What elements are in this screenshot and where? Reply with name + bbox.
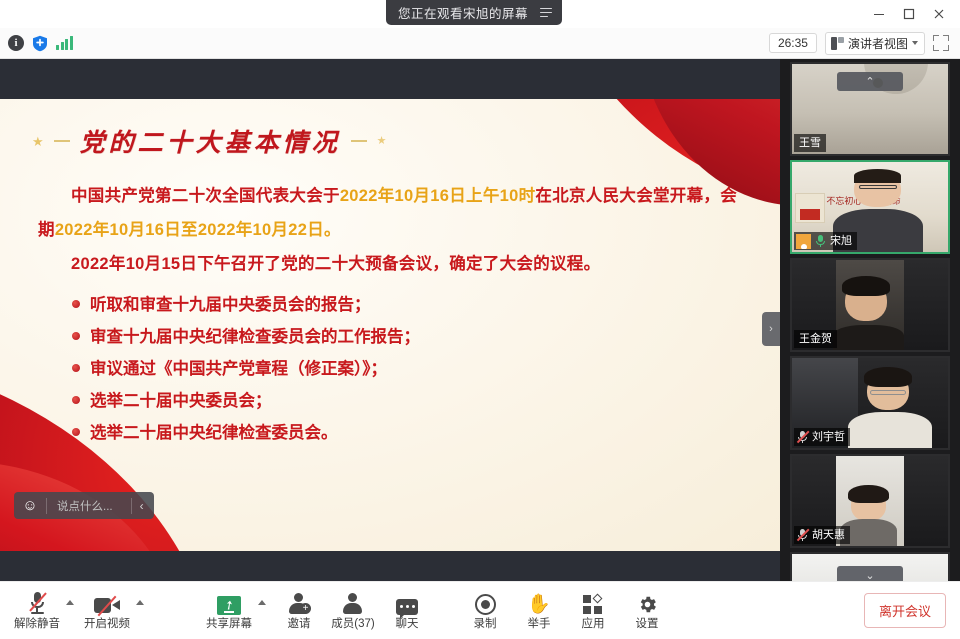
chat-bubble-icon — [396, 591, 418, 615]
share-screen-label: 共享屏幕 — [206, 618, 252, 631]
view-mode-label: 演讲者视图 — [848, 35, 908, 52]
slide-content: ★ 党的二十大基本情况 ★ 中国共产党第二十次全国代表大会于2022年10月16… — [0, 99, 780, 449]
participant-name: 宋旭 — [830, 233, 852, 249]
meeting-toolbar: 解除静音 开启视频 ➚ 共享屏幕 + 邀请 — [0, 581, 960, 639]
title-dash-right — [351, 140, 367, 142]
chat-label: 聊天 — [396, 618, 419, 631]
slide-bullet-text: 听取和审查十九届中央委员会的报告； — [90, 289, 371, 321]
bullet-dot-icon — [72, 332, 80, 340]
apps-label: 应用 — [582, 618, 605, 631]
shield-icon[interactable] — [32, 35, 48, 52]
chat-button[interactable]: 聊天 — [380, 589, 434, 633]
status-icons: i — [8, 35, 73, 52]
meeting-window: 您正在观看宋旭的屏幕 i — [0, 0, 960, 639]
fullscreen-icon[interactable] — [933, 35, 949, 51]
slide-bullet-text: 审议通过《中国共产党章程（修正案）》； — [90, 353, 387, 385]
raise-hand-label: 举手 — [528, 618, 551, 631]
slide-text-run: 2022年10月15日下午召开了党的二十大预备会议，确定了大会的议程。 — [71, 255, 600, 273]
slide-bullet-item: 选举二十届中央委员会； — [72, 385, 750, 417]
record-button[interactable]: 录制 — [458, 589, 512, 633]
camera-off-icon — [94, 591, 120, 615]
participant-name: 王雪 — [799, 135, 821, 151]
slide-bullet-text: 审查十九届中央纪律检查委员会的工作报告； — [90, 321, 420, 353]
star-decor-left: ★ — [32, 135, 44, 148]
video-label: 开启视频 — [84, 618, 130, 631]
slide-bullet-item: 审查十九届中央纪律检查委员会的工作报告； — [72, 321, 750, 353]
participant-tile[interactable]: ⌃ 王雪 — [790, 62, 950, 156]
slide-bullet-list: 听取和审查十九届中央委员会的报告；审查十九届中央纪律检查委员会的工作报告；审议通… — [38, 289, 750, 449]
stage-chat-input-bar[interactable]: ☺ 说点什么... ‹ — [14, 492, 154, 519]
title-bar: 您正在观看宋旭的屏幕 — [0, 0, 960, 28]
stage-chat-placeholder[interactable]: 说点什么... — [47, 498, 131, 514]
bullet-dot-icon — [72, 300, 80, 308]
meeting-status-bar: i 26:35 演讲者视图 — [0, 28, 960, 59]
participant-tile[interactable]: 刘宇哲 — [790, 356, 950, 450]
participant-name: 胡天惠 — [812, 527, 845, 543]
signal-strength-icon[interactable] — [56, 36, 73, 50]
participants-button[interactable]: 成员(37) — [326, 589, 380, 633]
meeting-timer: 26:35 — [769, 33, 817, 53]
collapse-panel-handle[interactable]: › — [762, 312, 780, 346]
raise-hand-icon: ✋ — [527, 591, 551, 615]
slide-bullet-item: 选举二十届中央纪律检查委员会。 — [72, 417, 750, 449]
settings-label: 设置 — [636, 618, 659, 631]
record-label: 录制 — [474, 618, 497, 631]
invite-button[interactable]: + 邀请 — [272, 589, 326, 633]
share-screen-button[interactable]: ➚ 共享屏幕 — [202, 589, 256, 633]
participants-icon — [342, 591, 364, 615]
status-right: 26:35 演讲者视图 — [769, 32, 952, 55]
bullet-dot-icon — [72, 428, 80, 436]
window-controls — [864, 0, 954, 28]
participant-name: 刘宇哲 — [812, 429, 845, 445]
participants-label: 成员(37) — [331, 618, 374, 631]
slide-bullet-text: 选举二十届中央委员会； — [90, 385, 272, 417]
microphone-muted-icon — [796, 528, 809, 542]
star-decor-right: ★ — [377, 136, 387, 147]
record-icon — [475, 591, 496, 615]
scroll-down-button[interactable]: ⌄ — [837, 566, 903, 581]
mute-label: 解除静音 — [14, 618, 60, 631]
chevron-left-icon[interactable]: ‹ — [132, 492, 152, 519]
participant-name-tag: 胡天惠 — [794, 526, 850, 544]
apps-grid-icon — [583, 591, 604, 615]
close-button[interactable] — [924, 1, 954, 27]
share-options-chevron-icon[interactable] — [258, 600, 266, 605]
screen-share-notice[interactable]: 您正在观看宋旭的屏幕 — [386, 0, 562, 25]
chevron-down-icon[interactable] — [912, 41, 918, 45]
participant-name-tag: 王金贺 — [794, 330, 837, 348]
slide-bullet-item: 审议通过《中国共产党章程（修正案）》； — [72, 353, 750, 385]
emoji-icon[interactable]: ☺ — [18, 494, 42, 518]
invite-label: 邀请 — [288, 618, 311, 631]
participant-name: 王金贺 — [799, 331, 832, 347]
title-dash-left — [54, 140, 70, 142]
highlighted-date: 2022年10月16日至2022年10月22日。 — [55, 221, 341, 239]
hamburger-menu-icon[interactable] — [540, 8, 552, 18]
share-screen-icon: ➚ — [217, 591, 241, 615]
settings-button[interactable]: 设置 — [620, 589, 674, 633]
leave-meeting-button[interactable]: 离开会议 — [864, 593, 946, 628]
slide-title: 党的二十大基本情况 — [80, 123, 341, 159]
highlighted-date: 2022年10月16日上午10时 — [340, 187, 536, 205]
view-mode-selector[interactable]: 演讲者视图 — [825, 32, 925, 55]
microphone-on-icon — [814, 234, 827, 248]
microphone-muted-icon — [796, 430, 809, 444]
participant-name-tag: 王雪 — [794, 134, 826, 152]
participant-tile[interactable]: ⌄ — [790, 552, 950, 581]
invite-person-icon: + — [288, 591, 310, 615]
participant-name-tag: 刘宇哲 — [794, 428, 850, 446]
maximize-button[interactable] — [894, 1, 924, 27]
avatar — [796, 234, 811, 249]
participant-tile[interactable]: 王金贺 — [790, 258, 950, 352]
speaker-view-icon — [831, 37, 844, 50]
slide-title-row: ★ 党的二十大基本情况 ★ — [18, 123, 750, 159]
mute-toggle-button[interactable]: 解除静音 — [10, 589, 64, 633]
bullet-dot-icon — [72, 396, 80, 404]
scroll-up-button[interactable]: ⌃ — [837, 72, 903, 91]
shared-screen-stage[interactable]: ★ 党的二十大基本情况 ★ 中国共产党第二十次全国代表大会于2022年10月16… — [0, 59, 780, 581]
participant-tile-active-speaker[interactable]: 不忘初心 牢记使命 宋旭 — [790, 160, 950, 254]
participant-sidebar[interactable]: ⌃ 王雪 不忘初心 牢记使命 宋旭 — [780, 59, 960, 581]
slide-bullet-item: 听取和审查十九届中央委员会的报告； — [72, 289, 750, 321]
presentation-slide: ★ 党的二十大基本情况 ★ 中国共产党第二十次全国代表大会于2022年10月16… — [0, 99, 780, 551]
participant-name-tag: 宋旭 — [794, 232, 857, 250]
microphone-muted-icon — [28, 591, 46, 615]
audio-options-chevron-icon[interactable] — [66, 600, 74, 605]
slide-body: 中国共产党第二十次全国代表大会于2022年10月16日上午10时在北京人民大会堂… — [18, 179, 750, 449]
bullet-dot-icon — [72, 364, 80, 372]
slide-paragraph-2: 2022年10月15日下午召开了党的二十大预备会议，确定了大会的议程。 — [38, 247, 750, 281]
video-options-chevron-icon[interactable] — [136, 600, 144, 605]
participant-tile[interactable]: 胡天惠 — [790, 454, 950, 548]
screen-share-notice-text: 您正在观看宋旭的屏幕 — [398, 3, 528, 22]
minimize-button[interactable] — [864, 1, 894, 27]
info-icon[interactable]: i — [8, 35, 24, 51]
apps-button[interactable]: 应用 — [566, 589, 620, 633]
video-toggle-button[interactable]: 开启视频 — [80, 589, 134, 633]
slide-text-run: 中国共产党第二十次全国代表大会于 — [71, 187, 340, 205]
slide-bullet-text: 选举二十届中央纪律检查委员会。 — [90, 417, 338, 449]
raise-hand-button[interactable]: ✋ 举手 — [512, 589, 566, 633]
slide-paragraph-1: 中国共产党第二十次全国代表大会于2022年10月16日上午10时在北京人民大会堂… — [38, 179, 750, 247]
gear-icon — [637, 591, 658, 615]
